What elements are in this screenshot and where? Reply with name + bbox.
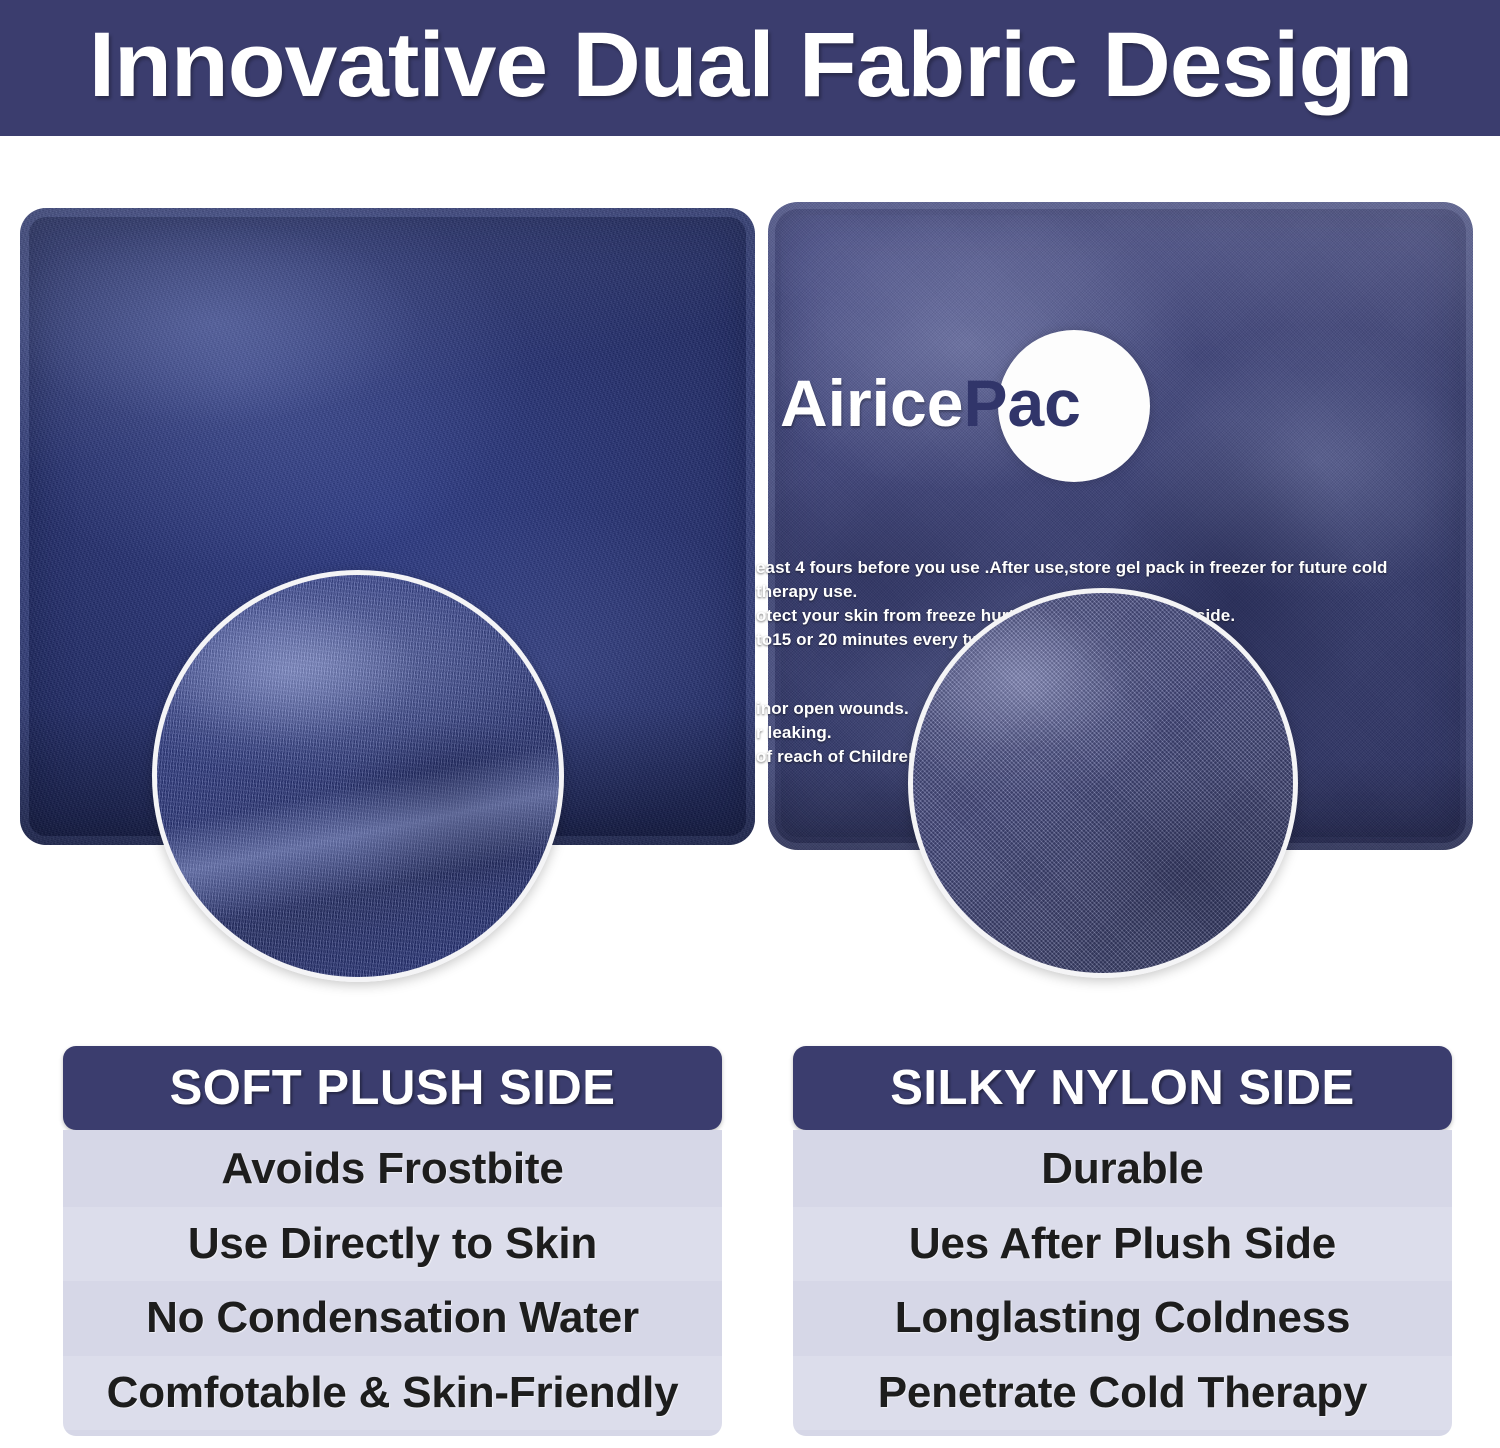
plush-texture-closeup-icon <box>152 570 564 982</box>
feature-item: Penetrate Cold Therapy <box>793 1356 1452 1431</box>
page-title: Innovative Dual Fabric Design <box>88 19 1411 117</box>
feature-card-plush: SOFT PLUSH SIDE Avoids Frostbite Use Dir… <box>63 1046 722 1436</box>
brand-logo-text-inner: Pac <box>963 366 1080 440</box>
nylon-texture-closeup-icon <box>908 588 1298 978</box>
feature-card-nylon-header: SILKY NYLON SIDE <box>793 1046 1452 1130</box>
feature-item: Use Directly to Skin <box>63 1207 722 1282</box>
feature-item: Durable <box>793 1132 1452 1207</box>
feature-item: No Condensation Water <box>63 1281 722 1356</box>
brand-logo-text-outer: Airice <box>780 366 963 440</box>
feature-item: Comfotable & Skin-Friendly <box>63 1356 722 1431</box>
feature-card-plush-header: SOFT PLUSH SIDE <box>63 1046 722 1130</box>
feature-card-nylon-body: Durable Ues After Plush Side Longlasting… <box>793 1130 1452 1436</box>
feature-card-nylon-title: SILKY NYLON SIDE <box>890 1060 1355 1116</box>
feature-item: Ues After Plush Side <box>793 1207 1452 1282</box>
brand-logo: AiricePac <box>780 346 1140 466</box>
feature-card-nylon: SILKY NYLON SIDE Durable Ues After Plush… <box>793 1046 1452 1436</box>
brand-logo-text: AiricePac <box>780 370 1081 436</box>
header-banner: Innovative Dual Fabric Design <box>0 0 1500 136</box>
feature-item: Avoids Frostbite <box>63 1132 722 1207</box>
feature-card-plush-title: SOFT PLUSH SIDE <box>170 1060 616 1116</box>
feature-card-plush-body: Avoids Frostbite Use Directly to Skin No… <box>63 1130 722 1436</box>
feature-cards: SOFT PLUSH SIDE Avoids Frostbite Use Dir… <box>0 1046 1500 1448</box>
product-photo-area: AiricePac east 4 fours before you use .A… <box>0 136 1500 1046</box>
feature-item: Longlasting Coldness <box>793 1281 1452 1356</box>
